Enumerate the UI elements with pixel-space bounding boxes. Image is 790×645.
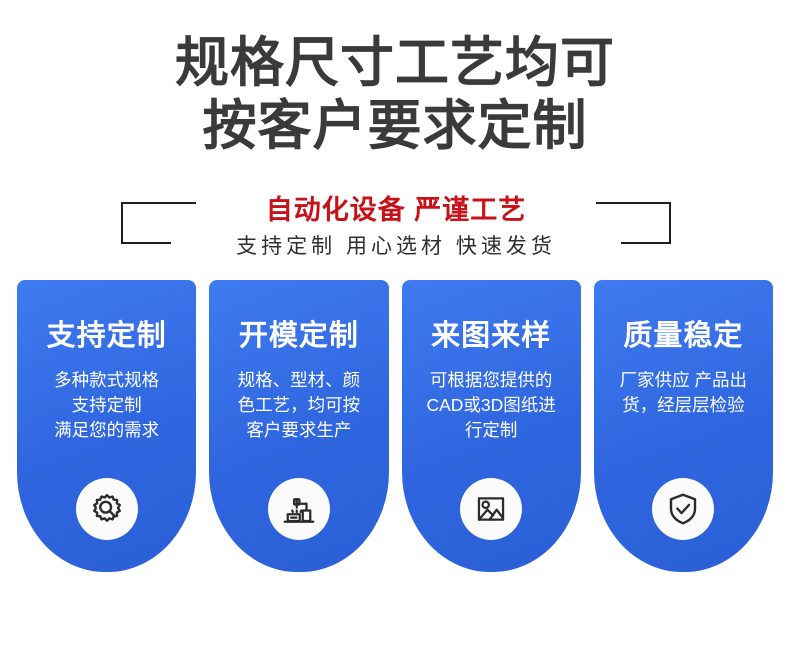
feature-card-support-custom[interactable]: 支持定制 多种款式规格 支持定制 满足您的需求 bbox=[17, 280, 196, 572]
feature-card-list: 支持定制 多种款式规格 支持定制 满足您的需求 开模定制 规格、型材、颜 色工艺… bbox=[17, 280, 773, 580]
band-headline-red: 自动化设备 严谨工艺 bbox=[121, 188, 671, 227]
card-title: 开模定制 bbox=[209, 312, 388, 354]
card-icon-badge bbox=[652, 478, 714, 540]
page-title-line-2: 按客户要求定制 bbox=[0, 95, 790, 158]
band-subtext: 支持定制 用心选材 快速发货 bbox=[121, 230, 671, 260]
page-title-line-1: 规格尺寸工艺均可 bbox=[175, 33, 615, 93]
card-body: 多种款式规格 支持定制 满足您的需求 bbox=[25, 368, 188, 443]
card-title: 支持定制 bbox=[17, 312, 196, 354]
gear-search-icon bbox=[89, 491, 125, 527]
card-body: 厂家供应 产品出 货，经层层检验 bbox=[602, 368, 765, 418]
card-title: 来图来样 bbox=[402, 312, 581, 354]
page-title: 规格尺寸工艺均可 按客户要求定制 bbox=[0, 32, 790, 158]
card-body: 可根据您提供的 CAD或3D图纸进 行定制 bbox=[410, 368, 573, 443]
card-icon-badge bbox=[268, 478, 330, 540]
feature-card-stable-quality[interactable]: 质量稳定 厂家供应 产品出 货，经层层检验 bbox=[594, 280, 773, 572]
molding-machine-icon bbox=[281, 491, 317, 527]
image-picture-icon bbox=[474, 492, 508, 526]
card-body: 规格、型材、颜 色工艺，均可按 客户要求生产 bbox=[217, 368, 380, 443]
feature-card-drawing-sample[interactable]: 来图来样 可根据您提供的 CAD或3D图纸进 行定制 bbox=[402, 280, 581, 572]
shield-check-icon bbox=[665, 491, 701, 527]
card-icon-badge bbox=[460, 478, 522, 540]
card-title: 质量稳定 bbox=[594, 312, 773, 354]
card-icon-badge bbox=[76, 478, 138, 540]
feature-card-mold-custom[interactable]: 开模定制 规格、型材、颜 色工艺，均可按 客户要求生产 bbox=[209, 280, 388, 572]
bracket-band: 自动化设备 严谨工艺 支持定制 用心选材 快速发货 bbox=[121, 198, 671, 258]
